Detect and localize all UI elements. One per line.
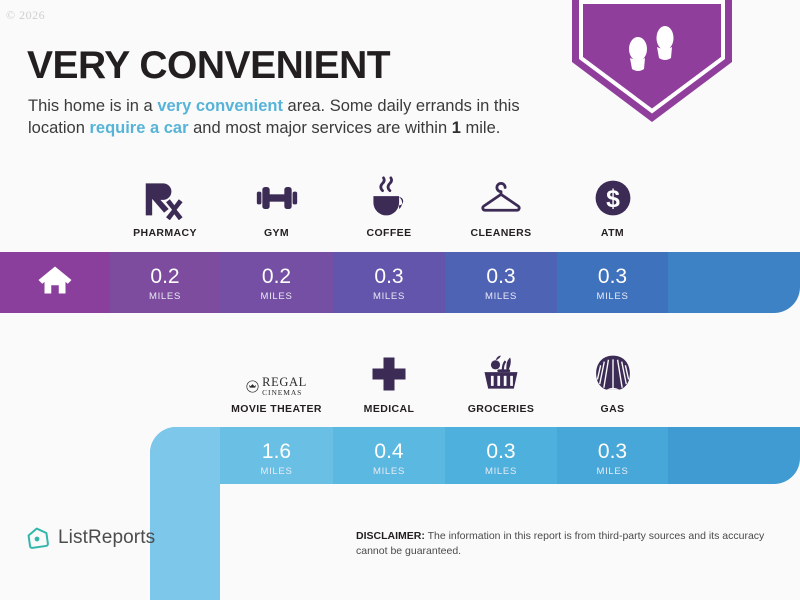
- distance-bar-row-2: 1.6MILES0.4MILES0.3MILES0.3MILES: [150, 427, 800, 484]
- shell-icon: [591, 344, 635, 396]
- distance-value: 0.3: [557, 266, 668, 287]
- subtitle-highlight-3: 1: [452, 119, 461, 137]
- distance-unit: MILES: [333, 466, 445, 477]
- category-gym: GYM: [220, 168, 333, 239]
- distance-value: 0.2: [220, 266, 333, 287]
- distance-unit: MILES: [445, 291, 557, 302]
- listreports-wordmark: ListReports: [58, 527, 155, 549]
- hanger-icon: [479, 168, 523, 220]
- subtitle-part-4: mile.: [461, 119, 500, 137]
- svg-text:$: $: [606, 186, 620, 213]
- category-label: CLEANERS: [471, 227, 532, 239]
- category-groceries: GROCERIES: [445, 344, 557, 415]
- distance-cell-cleaners: 0.3MILES: [445, 252, 557, 313]
- distance-cell-atm: 0.3MILES: [557, 252, 668, 313]
- distance-unit: MILES: [220, 291, 333, 302]
- convenience-badge: [572, 0, 732, 122]
- bar-tail-row-1: [668, 252, 800, 313]
- distance-unit: MILES: [445, 466, 557, 477]
- category-cleaners: CLEANERS: [445, 168, 557, 239]
- distance-cell-gas: 0.3MILES: [557, 427, 668, 484]
- regal-cinemas-logo: REGALCINEMAS: [246, 344, 307, 396]
- medical-cross-icon: [367, 344, 411, 396]
- distance-cell-pharmacy: 0.2MILES: [110, 252, 220, 313]
- subtitle-text: This home is in a very convenient area. …: [28, 96, 573, 140]
- distance-unit: MILES: [110, 291, 220, 302]
- dollar-circle-icon: $: [591, 168, 635, 220]
- regal-crown-emblem: [246, 380, 259, 393]
- bar-connector: [150, 427, 220, 600]
- distance-value: 0.4: [333, 441, 445, 462]
- distance-value: 0.3: [445, 266, 557, 287]
- category-medical: MEDICAL: [333, 344, 445, 415]
- disclaimer-label: DISCLAIMER:: [356, 530, 425, 542]
- distance-value: 0.3: [445, 441, 557, 462]
- home-cell: [0, 252, 110, 313]
- infographic-page: © 2026 VERY CONVENIENT This home is in a…: [0, 0, 800, 600]
- category-gas: GAS: [557, 344, 668, 415]
- subtitle-highlight-2: require a car: [89, 119, 188, 137]
- house-icon: [37, 262, 73, 303]
- category-movie-theater: REGALCINEMASMOVIE THEATER: [220, 344, 333, 415]
- category-label: PHARMACY: [133, 227, 197, 239]
- category-label: GYM: [264, 227, 289, 239]
- disclaimer: DISCLAIMER: The information in this repo…: [356, 529, 786, 559]
- distance-unit: MILES: [333, 291, 445, 302]
- coffee-cup-icon: [367, 168, 411, 220]
- page-title: VERY CONVENIENT: [27, 46, 390, 85]
- distance-unit: MILES: [220, 466, 333, 477]
- distance-cell-groceries: 0.3MILES: [445, 427, 557, 484]
- category-label: GROCERIES: [468, 403, 535, 415]
- category-label: MOVIE THEATER: [231, 403, 322, 415]
- distance-cell-coffee: 0.3MILES: [333, 252, 445, 313]
- distance-unit: MILES: [557, 466, 668, 477]
- subtitle-highlight-1: very convenient: [157, 97, 283, 115]
- copyright-notice: © 2026: [6, 8, 45, 23]
- category-label: GAS: [601, 403, 625, 415]
- subtitle-part-1: This home is in a: [28, 97, 157, 115]
- grocery-basket-icon: [479, 344, 523, 396]
- distance-cell-movie-theater: 1.6MILES: [220, 427, 333, 484]
- category-label: ATM: [601, 227, 624, 239]
- category-pharmacy: PHARMACY: [110, 168, 220, 239]
- category-label: MEDICAL: [364, 403, 415, 415]
- badge-shield-shape: [572, 0, 732, 122]
- subtitle-part-3: and most major services are within: [189, 119, 452, 137]
- dumbbell-icon: [255, 168, 299, 220]
- rx-icon: [143, 168, 187, 220]
- category-label: COFFEE: [367, 227, 412, 239]
- listreports-house-icon: [26, 526, 50, 550]
- distance-value: 0.2: [110, 266, 220, 287]
- bar-tail-row-2: [668, 427, 800, 484]
- distance-bar-row-1: 0.2MILES0.2MILES0.3MILES0.3MILES0.3MILES: [0, 252, 800, 313]
- distance-value: 0.3: [557, 441, 668, 462]
- distance-value: 1.6: [220, 441, 333, 462]
- distance-unit: MILES: [557, 291, 668, 302]
- distance-value: 0.3: [333, 266, 445, 287]
- category-atm: $ATM: [557, 168, 668, 239]
- listreports-logo[interactable]: ListReports: [26, 526, 155, 550]
- category-coffee: COFFEE: [333, 168, 445, 239]
- distance-cell-medical: 0.4MILES: [333, 427, 445, 484]
- distance-cell-gym: 0.2MILES: [220, 252, 333, 313]
